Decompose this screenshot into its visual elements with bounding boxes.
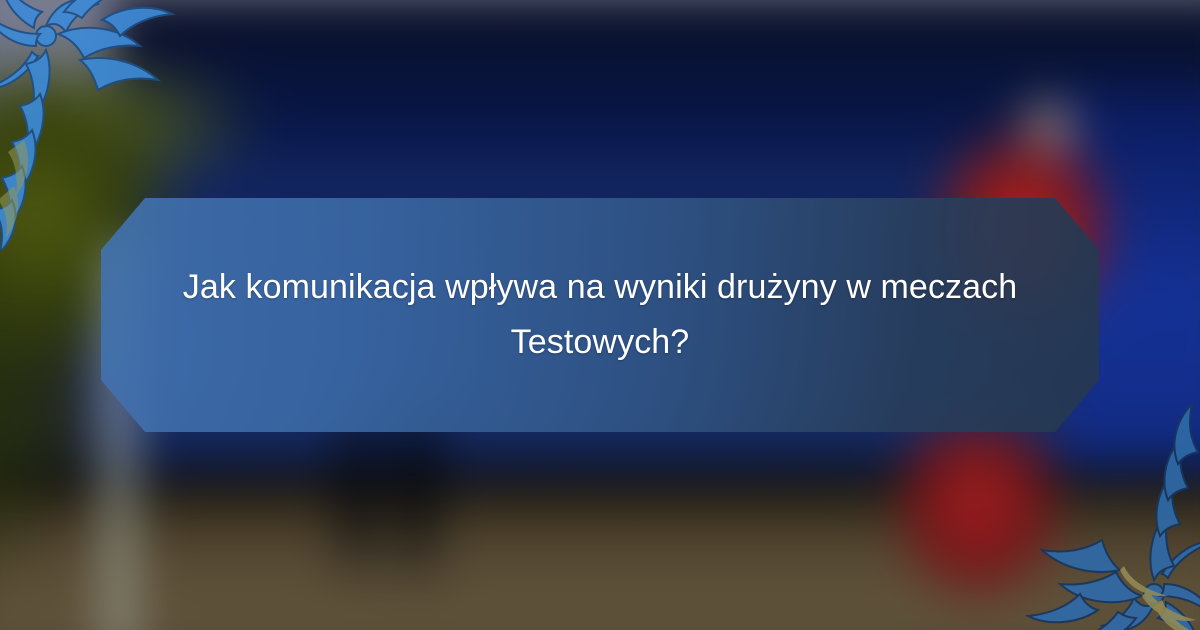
headline-banner: Jak komunikacja wpływa na wyniki drużyny… [101, 198, 1099, 432]
page-title: Jak komunikacja wpływa na wyniki drużyny… [101, 260, 1099, 370]
share-card-canvas: Jak komunikacja wpływa na wyniki drużyny… [0, 0, 1200, 630]
